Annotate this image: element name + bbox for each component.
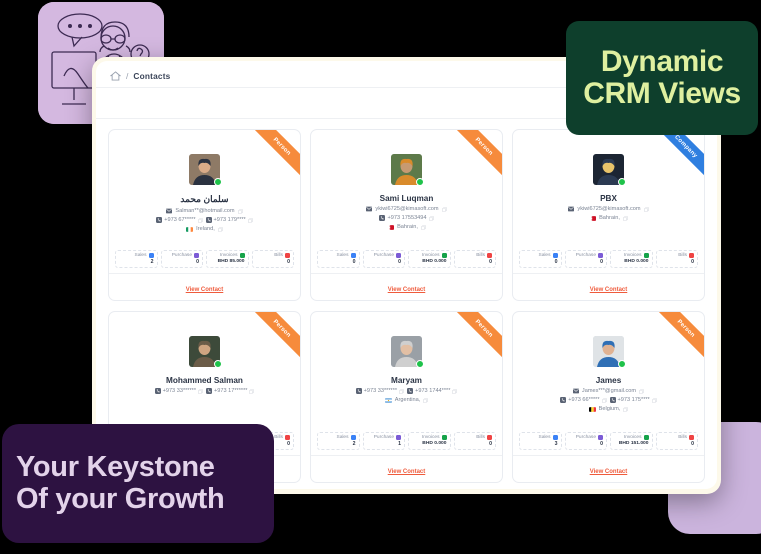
- mail-icon: [366, 206, 372, 212]
- breadcrumb-current: Contacts: [133, 71, 170, 81]
- mail-icon: [166, 208, 172, 214]
- phone-chunk[interactable]: +973 33******: [356, 388, 404, 394]
- phone-number: +973 66*****: [568, 397, 599, 403]
- stat-label: Purchase: [374, 435, 394, 440]
- phone-icon: [407, 388, 413, 394]
- copy-icon[interactable]: [238, 209, 243, 214]
- country-name: Ireland,: [196, 226, 215, 232]
- invoices-icon: [240, 253, 245, 258]
- phone-number: +973 33******: [163, 388, 196, 394]
- sales-icon: [149, 253, 154, 258]
- contact-name: Maryam: [311, 376, 502, 385]
- contact-phones: +973 33******+973 1744****: [311, 388, 502, 394]
- online-status-dot: [214, 178, 222, 186]
- stat-bills[interactable]: Bills0: [252, 250, 295, 268]
- online-status-dot: [618, 360, 626, 368]
- stat-sales[interactable]: Sales0: [519, 250, 562, 268]
- stat-value: BHD 0.000: [412, 441, 447, 446]
- copy-icon[interactable]: [421, 225, 426, 230]
- card-footer: View Contact: [311, 273, 502, 300]
- contact-card[interactable]: Personسلمان محمدSalman**@hotmail.com+973…: [108, 129, 301, 301]
- email-text: ykiwi6725@kimasoft.com: [375, 206, 438, 212]
- phone-icon: [379, 215, 385, 221]
- copy-icon[interactable]: [623, 216, 628, 221]
- stat-value: BHD 0.000: [412, 259, 447, 264]
- avatar: [593, 154, 624, 185]
- stat-value: 2: [119, 259, 154, 265]
- stat-label: Purchase: [374, 253, 394, 258]
- argentina-flag: [385, 398, 392, 403]
- stat-value: 0: [321, 259, 356, 265]
- avatar: [189, 336, 220, 367]
- purchase-icon: [598, 253, 603, 258]
- copy-icon[interactable]: [442, 207, 447, 212]
- stat-label: Invoices: [422, 435, 440, 440]
- contact-card[interactable]: CompanyPBXykiwi6725@kimasoft.comBahrain,…: [512, 129, 705, 301]
- phone-number: +973 1744****: [415, 388, 450, 394]
- breadcrumb-separator: /: [126, 71, 128, 81]
- stat-label: Invoices: [422, 253, 440, 258]
- contact-country: Bahrain,: [311, 224, 502, 230]
- country-name: Argentina,: [395, 397, 421, 403]
- phone-icon: [156, 217, 162, 223]
- copy-icon[interactable]: [249, 389, 254, 394]
- stat-label: Bills: [274, 253, 283, 258]
- belgium-flag: [589, 407, 596, 412]
- stat-value: 0: [660, 441, 695, 447]
- purple-callout-badge: Your Keystone Of your Growth: [2, 424, 274, 543]
- phone-icon: [155, 388, 161, 394]
- stat-label: Bills: [678, 253, 687, 258]
- contact-stats: Sales0Purchase0InvoicesBHD 0.000Bills0: [311, 250, 502, 273]
- contact-card[interactable]: PersonSami Luqmanykiwi6725@kimasoft.com+…: [310, 129, 503, 301]
- online-status-dot: [214, 360, 222, 368]
- stat-purchase[interactable]: Purchase0: [363, 250, 406, 268]
- copy-icon[interactable]: [623, 407, 628, 412]
- contact-name: سلمان محمد: [109, 194, 300, 205]
- stat-label: Sales: [337, 435, 349, 440]
- sales-icon: [553, 435, 558, 440]
- contact-country: Argentina,: [311, 397, 502, 403]
- stat-label: Sales: [135, 253, 147, 258]
- invoices-icon: [644, 435, 649, 440]
- phone-icon: [206, 217, 212, 223]
- phone-icon: [560, 397, 566, 403]
- phone-number: +973 17******: [214, 388, 247, 394]
- contact-phones: +973 17553494: [311, 215, 502, 221]
- purchase-icon: [396, 253, 401, 258]
- contact-stats: Sales3Purchase0InvoicesBHD 151.000Bills0: [513, 432, 704, 455]
- phone-chunk[interactable]: +973 175****: [610, 397, 657, 403]
- stat-sales[interactable]: Sales3: [519, 432, 562, 450]
- stat-invoices[interactable]: InvoicesBHD 85.000: [206, 250, 249, 268]
- email-text: Salman**@hotmail.com: [175, 208, 234, 214]
- phone-number: +973 179****: [214, 217, 246, 223]
- phone-chunk[interactable]: +973 33******: [155, 388, 203, 394]
- contact-phones: +973 66*****+973 175****: [513, 397, 704, 403]
- contact-email[interactable]: James***@gmail.com: [513, 388, 704, 394]
- stat-label: Bills: [274, 435, 283, 440]
- phone-chunk[interactable]: +973 1744****: [407, 388, 457, 394]
- contact-name: James: [513, 376, 704, 385]
- online-status-dot: [618, 178, 626, 186]
- invoices-icon: [442, 253, 447, 258]
- stat-value: 2: [321, 441, 356, 447]
- sales-icon: [351, 435, 356, 440]
- stat-bills[interactable]: Bills0: [656, 432, 699, 450]
- contact-card[interactable]: PersonMaryam+973 33******+973 1744****Ar…: [310, 311, 503, 483]
- purchase-icon: [194, 253, 199, 258]
- contact-email[interactable]: ykiwi6725@kimasoft.com: [311, 206, 502, 212]
- contact-name: Sami Luqman: [311, 194, 502, 203]
- copy-icon[interactable]: [644, 207, 649, 212]
- card-footer: View Contact: [311, 455, 502, 482]
- phone-number: +973 33******: [364, 388, 397, 394]
- stat-value: 0: [569, 441, 604, 447]
- stat-value: 0: [523, 259, 558, 265]
- stat-value: 0: [569, 259, 604, 265]
- country-name: Bahrain,: [397, 224, 418, 230]
- stat-label: Sales: [337, 253, 349, 258]
- stat-label: Purchase: [576, 253, 596, 258]
- view-contact-link[interactable]: View Contact: [388, 469, 426, 475]
- online-status-dot: [416, 360, 424, 368]
- stat-purchase[interactable]: Purchase1: [363, 432, 406, 450]
- bills-icon: [285, 253, 290, 258]
- stat-label: Purchase: [576, 435, 596, 440]
- contact-stats: Sales2Purchase1InvoicesBHD 0.000Bills0: [311, 432, 502, 455]
- poster-stage: / Contacts Personسلمان محمدSalman**@hotm…: [0, 0, 761, 554]
- card-footer: View Contact: [513, 273, 704, 300]
- bills-icon: [689, 253, 694, 258]
- stat-value: BHD 151.000: [614, 441, 649, 446]
- invoices-icon: [644, 253, 649, 258]
- contact-country: Belgium,: [513, 406, 704, 412]
- stat-value: BHD 85.000: [210, 259, 245, 264]
- phone-number: +973 17553494: [387, 215, 426, 221]
- bahrain-flag: [589, 216, 596, 221]
- stat-label: Purchase: [172, 253, 192, 258]
- mail-icon: [573, 388, 579, 394]
- phone-icon: [610, 397, 616, 403]
- view-contact-link[interactable]: View Contact: [590, 469, 628, 475]
- stat-label: Bills: [476, 253, 485, 258]
- copy-icon[interactable]: [198, 389, 203, 394]
- contact-email[interactable]: ykiwi6725@kimasoft.com: [513, 206, 704, 212]
- stat-value: 0: [165, 259, 200, 265]
- copy-icon[interactable]: [218, 227, 223, 232]
- stat-label: Bills: [476, 435, 485, 440]
- view-contact-link[interactable]: View Contact: [186, 287, 224, 293]
- green-badge-line2: CRM Views: [583, 78, 741, 110]
- view-contact-link[interactable]: View Contact: [590, 287, 628, 293]
- contact-country: Ireland,: [109, 226, 300, 232]
- purple-badge-line2: Of your Growth: [16, 484, 274, 516]
- phone-chunk[interactable]: +973 66*****: [560, 397, 606, 403]
- phone-number: +973 67*****: [164, 217, 195, 223]
- phone-chunk[interactable]: +973 67*****: [156, 217, 202, 223]
- mail-icon: [568, 206, 574, 212]
- ireland-flag: [186, 227, 193, 232]
- home-icon[interactable]: [110, 71, 121, 81]
- stat-label: Invoices: [624, 435, 642, 440]
- sales-icon: [553, 253, 558, 258]
- copy-icon[interactable]: [452, 389, 457, 394]
- card-footer: View Contact: [513, 455, 704, 482]
- stat-invoices[interactable]: InvoicesBHD 0.000: [408, 250, 451, 268]
- bills-icon: [487, 253, 492, 258]
- contact-name: PBX: [513, 194, 704, 203]
- invoices-icon: [442, 435, 447, 440]
- stat-invoices[interactable]: InvoicesBHD 151.000: [610, 432, 653, 450]
- contact-stats: Sales2Purchase0InvoicesBHD 85.000Bills0: [109, 250, 300, 273]
- stat-bills[interactable]: Bills0: [454, 432, 497, 450]
- card-footer: View Contact: [109, 273, 300, 300]
- copy-icon[interactable]: [248, 218, 253, 223]
- view-contact-link[interactable]: View Contact: [388, 287, 426, 293]
- bills-icon: [285, 435, 290, 440]
- stat-invoices[interactable]: InvoicesBHD 0.000: [610, 250, 653, 268]
- stat-value: 0: [367, 259, 402, 265]
- stat-value: 0: [256, 259, 291, 265]
- contact-phones: +973 67*****+973 179****: [109, 217, 300, 223]
- phone-chunk[interactable]: +973 17******: [206, 388, 254, 394]
- stat-label: Invoices: [220, 253, 238, 258]
- stat-value: 0: [458, 441, 493, 447]
- phone-chunk[interactable]: +973 17553494: [379, 215, 433, 221]
- stat-sales[interactable]: Sales2: [115, 250, 158, 268]
- stat-purchase[interactable]: Purchase0: [565, 432, 608, 450]
- stat-purchase[interactable]: Purchase0: [565, 250, 608, 268]
- phone-chunk[interactable]: +973 179****: [206, 217, 253, 223]
- bahrain-flag: [387, 225, 394, 230]
- bills-icon: [689, 435, 694, 440]
- avatar: [391, 336, 422, 367]
- stat-label: Invoices: [624, 253, 642, 258]
- copy-icon[interactable]: [602, 398, 607, 403]
- bills-icon: [487, 435, 492, 440]
- copy-icon[interactable]: [198, 218, 203, 223]
- email-text: ykiwi6725@kimasoft.com: [577, 206, 640, 212]
- stat-value: BHD 0.000: [614, 259, 649, 264]
- stat-value: 0: [660, 259, 695, 265]
- stat-bills[interactable]: Bills0: [656, 250, 699, 268]
- contact-name: Mohammed Salman: [109, 376, 300, 385]
- contact-card[interactable]: PersonJamesJames***@gmail.com+973 66****…: [512, 311, 705, 483]
- avatar: [391, 154, 422, 185]
- contact-email[interactable]: Salman**@hotmail.com: [109, 208, 300, 214]
- stat-value: 0: [458, 259, 493, 265]
- copy-icon[interactable]: [639, 389, 644, 394]
- copy-icon[interactable]: [429, 216, 434, 221]
- country-name: Belgium,: [599, 406, 621, 412]
- green-badge-line1: Dynamic: [601, 46, 723, 78]
- stat-sales[interactable]: Sales2: [317, 432, 360, 450]
- purple-badge-line1: Your Keystone: [16, 452, 274, 484]
- stat-label: Bills: [678, 435, 687, 440]
- contact-stats: Sales0Purchase0InvoicesBHD 0.000Bills0: [513, 250, 704, 273]
- copy-icon[interactable]: [399, 389, 404, 394]
- online-status-dot: [416, 178, 424, 186]
- contact-country: Bahrain,: [513, 215, 704, 221]
- stat-invoices[interactable]: InvoicesBHD 0.000: [408, 432, 451, 450]
- phone-icon: [356, 388, 362, 394]
- stat-sales[interactable]: Sales0: [317, 250, 360, 268]
- green-callout-badge: Dynamic CRM Views: [566, 21, 758, 135]
- stat-label: Sales: [539, 253, 551, 258]
- country-name: Bahrain,: [599, 215, 620, 221]
- stat-label: Sales: [539, 435, 551, 440]
- copy-icon[interactable]: [423, 398, 428, 403]
- sales-icon: [351, 253, 356, 258]
- stat-value: 1: [367, 441, 402, 447]
- purchase-icon: [598, 435, 603, 440]
- phone-number: +973 175****: [618, 397, 650, 403]
- stat-value: 3: [523, 441, 558, 447]
- phone-icon: [206, 388, 212, 394]
- stat-bills[interactable]: Bills0: [454, 250, 497, 268]
- purchase-icon: [396, 435, 401, 440]
- copy-icon[interactable]: [652, 398, 657, 403]
- stat-purchase[interactable]: Purchase0: [161, 250, 204, 268]
- email-text: James***@gmail.com: [582, 388, 636, 394]
- contact-phones: +973 33******+973 17******: [109, 388, 300, 394]
- avatar: [189, 154, 220, 185]
- avatar: [593, 336, 624, 367]
